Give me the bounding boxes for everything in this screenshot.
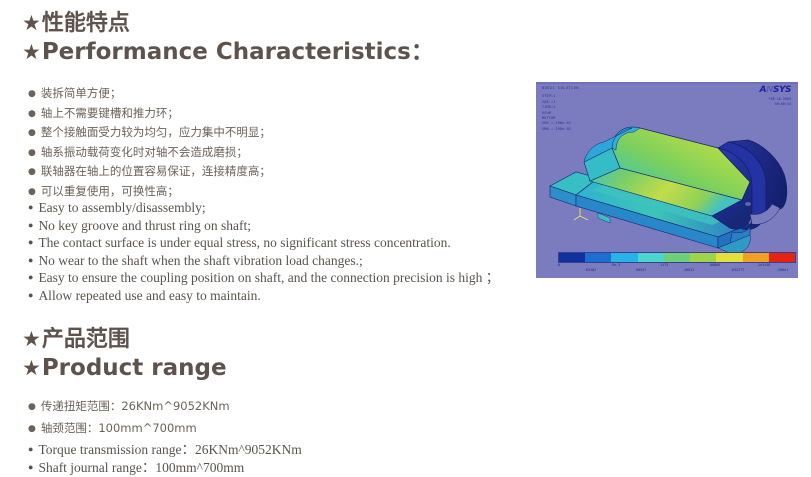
list-item: ●Shaft journal range：100mm^700mm (28, 459, 302, 477)
fea-simulation-figure: NODAL SOLUTION STEP=1 SUB =1 TIME=1 USUM… (536, 82, 798, 278)
product-range-heading-cn: ★产品范围 (22, 326, 227, 353)
performance-heading-en-text: Performance Characteristics： (42, 39, 434, 65)
list-item-text: 传递扭矩范围：26KNm^9052KNm (41, 399, 230, 413)
bullet-icon: ● (28, 202, 33, 212)
legend-tick: .032277 (730, 268, 744, 272)
list-item: ●Allow repeated use and easy to maintain… (28, 287, 499, 305)
legend-color-bar (558, 252, 796, 263)
list-item-text: The contact surface is under equal stres… (38, 235, 450, 250)
legend-tick: .8e-3 (610, 263, 620, 267)
performance-list-en: ●Easy to assembly/disassembly; ●No key g… (28, 199, 499, 304)
list-item: ●轴系振动载荷变化时对轴不会造成磨损； (28, 143, 271, 163)
performance-heading-en: ★Performance Characteristics： (22, 37, 434, 67)
bullet-icon: ● (28, 290, 33, 300)
list-item: ●Easy to ensure the coupling position on… (28, 269, 499, 287)
list-item-text: 可以重复使用，可换性高； (41, 184, 179, 198)
legend-swatch (611, 253, 637, 262)
bullet-icon: ● (28, 444, 33, 454)
legend-swatch (559, 253, 585, 262)
legend-tick: .03182 (584, 268, 596, 272)
legend-swatch (638, 253, 664, 262)
list-item: ●No wear to the shaft when the shaft vib… (28, 252, 499, 270)
fea-color-legend: 0 .8e-3 .1173 .00885 .2e3430 .03182 .005… (558, 252, 794, 274)
list-item-text: Shaft journal range：100mm^700mm (38, 460, 244, 475)
list-item: ●No key groove and thrust ring on shaft; (28, 217, 499, 235)
list-item-text: Easy to assembly/disassembly; (38, 200, 205, 215)
product-range-heading-en: ★Product range (22, 353, 227, 383)
star-icon: ★ (22, 37, 41, 67)
star-icon: ★ (22, 326, 41, 353)
bullet-icon: ● (28, 272, 33, 282)
bullet-icon: ● (28, 402, 36, 412)
bullet-icon: ● (28, 220, 33, 230)
bullet-icon: ● (28, 424, 36, 434)
legend-swatch (585, 253, 611, 262)
list-item-text: 轴颈范围：100mm^700mm (41, 421, 197, 435)
performance-heading-cn-text: 性能特点 (42, 11, 130, 36)
product-range-list-en: ●Torque transmission range：26KNm^9052KNm… (28, 441, 302, 476)
list-item-text: 装拆简单方便； (41, 86, 122, 100)
list-item: ●The contact surface is under equal stre… (28, 234, 499, 252)
performance-heading-cn: ★性能特点 (22, 10, 434, 37)
legend-tick: .00547 (634, 268, 646, 272)
legend-tick: .296e1 (776, 268, 788, 272)
product-range-heading-en-text: Product range (42, 355, 227, 381)
list-item: ●联轴器在轴上的位置容易保证，连接精度高； (28, 162, 271, 182)
legend-swatch (769, 253, 795, 262)
legend-swatch (664, 253, 690, 262)
list-item: ●传递扭矩范围：26KNm^9052KNm (28, 396, 230, 418)
list-item-text: 联轴器在轴上的位置容易保证，连接精度高； (41, 164, 271, 178)
list-item-text: No wear to the shaft when the shaft vibr… (38, 253, 362, 268)
bullet-icon: ● (28, 187, 36, 197)
list-item: ●轴颈范围：100mm^700mm (28, 418, 230, 440)
legend-swatch (690, 253, 716, 262)
bullet-icon: ● (28, 109, 36, 119)
bullet-icon: ● (28, 255, 33, 265)
star-icon: ★ (22, 353, 41, 383)
list-item: ●整个接触面受力较为均匀，应力集中不明显； (28, 123, 271, 143)
fea-model-drawing (536, 82, 798, 278)
bullet-icon: ● (28, 148, 36, 158)
bullet-icon: ● (28, 462, 33, 472)
list-item: ●装拆简单方便； (28, 84, 271, 104)
bullet-icon: ● (28, 89, 36, 99)
product-range-heading-cn-text: 产品范围 (42, 327, 130, 352)
bullet-icon: ● (28, 237, 33, 247)
star-icon: ★ (22, 10, 41, 37)
legend-swatch (716, 253, 742, 262)
list-item-text: No key groove and thrust ring on shaft; (38, 218, 251, 233)
bullet-icon: ● (28, 167, 36, 177)
legend-tick: .1173 (658, 263, 668, 267)
performance-list-cn: ●装拆简单方便； ●轴上不需要键槽和推力环； ●整个接触面受力较为均匀，应力集中… (28, 84, 271, 201)
list-item: ●Torque transmission range：26KNm^9052KNm (28, 441, 302, 459)
legend-swatch (743, 253, 769, 262)
list-item: ●Easy to assembly/disassembly; (28, 199, 499, 217)
list-item-text: Easy to ensure the coupling position on … (38, 270, 499, 285)
legend-tick: .2e3430 (756, 263, 770, 267)
product-range-heading-block: ★产品范围 ★Product range (22, 326, 227, 383)
list-item-text: 轴上不需要键槽和推力环； (41, 106, 179, 120)
legend-tick: .16012 (682, 268, 694, 272)
performance-heading-block: ★性能特点 ★Performance Characteristics： (22, 10, 434, 67)
product-range-list-cn: ●传递扭矩范围：26KNm^9052KNm ●轴颈范围：100mm^700mm (28, 396, 230, 440)
legend-tick: .00885 (708, 263, 720, 267)
list-item: ●轴上不需要键槽和推力环； (28, 104, 271, 124)
list-item-text: 整个接触面受力较为均匀，应力集中不明显； (41, 125, 271, 139)
legend-tick: 0 (558, 263, 560, 267)
legend-tick-labels: 0 .8e-3 .1173 .00885 .2e3430 .03182 .005… (558, 263, 794, 274)
list-item-text: Torque transmission range：26KNm^9052KNm (38, 442, 301, 457)
list-item-text: Allow repeated use and easy to maintain. (38, 288, 260, 303)
bullet-icon: ● (28, 128, 36, 138)
list-item-text: 轴系振动载荷变化时对轴不会造成磨损； (41, 145, 248, 159)
